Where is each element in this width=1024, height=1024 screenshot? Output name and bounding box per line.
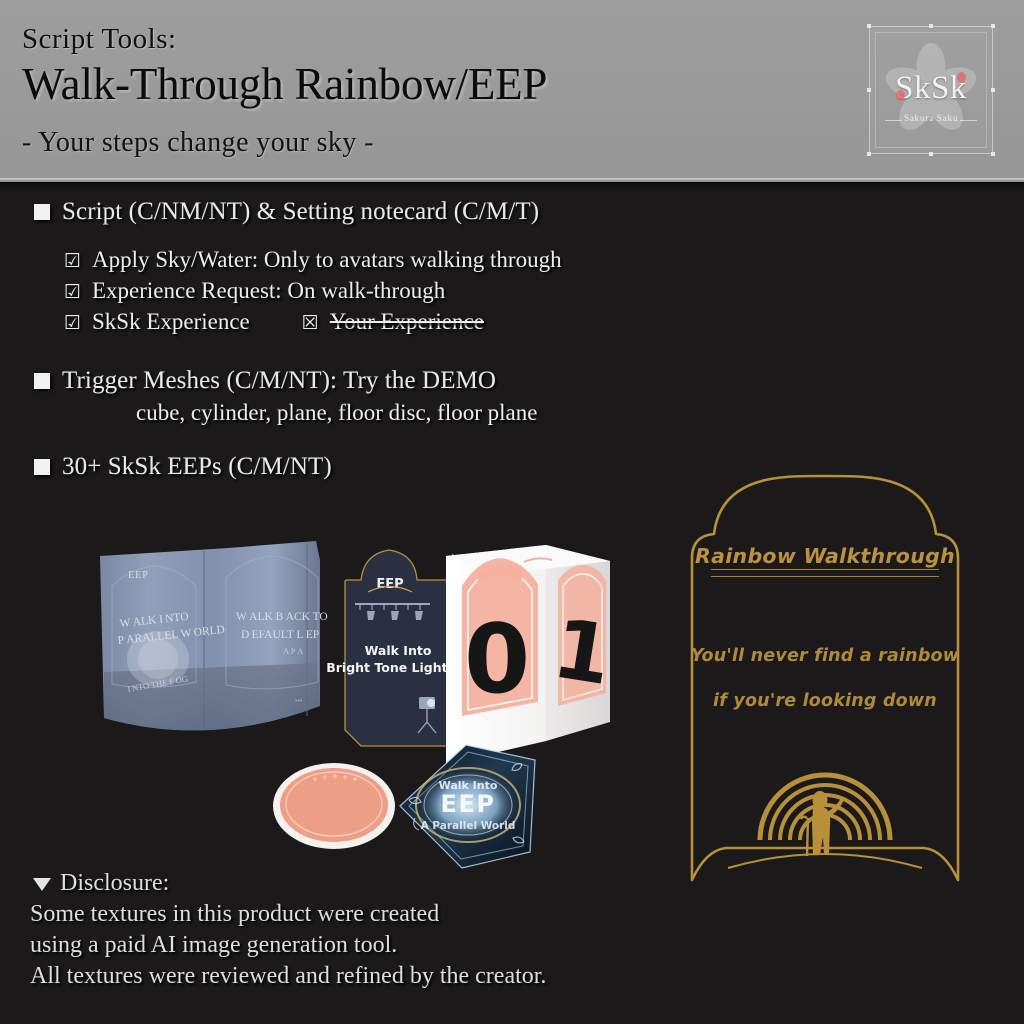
checkbox-square-icon[interactable]	[34, 459, 50, 475]
checked-box-icon[interactable]: ☑	[64, 309, 83, 338]
studio-light-icon	[418, 697, 436, 733]
svg-text:•••: •••	[295, 697, 303, 705]
trigger-meshes-note: cube, cylinder, plane, floor disc, floor…	[0, 398, 660, 428]
sub-item-sksk-experience: ☑ SkSk Experience ☒ Your Experience	[0, 307, 660, 338]
person-silhouette	[812, 791, 844, 855]
logo-accent-dot-left	[896, 90, 905, 101]
header-tagline: - Your steps change your sky -	[22, 127, 374, 159]
floor-plane-line3: A Parallel World	[421, 820, 516, 832]
svg-text:EEP: EEP	[128, 570, 149, 581]
feature-checklist: Script (C/NM/NT) & Setting notecard (C/M…	[0, 195, 660, 484]
spacer	[0, 338, 660, 364]
sub-item-label: SkSk Experience	[92, 307, 250, 336]
spacer	[0, 428, 660, 450]
checked-box-icon[interactable]: ☑	[64, 247, 83, 276]
sub-item-apply-sky-water: ☑ Apply Sky/Water: Only to avatars walki…	[0, 245, 660, 276]
mesh-cylinder: EEP W ALK I NTO P ARALLEL W ORLD I NTO T…	[100, 541, 328, 731]
logo-handle-bc	[929, 152, 933, 156]
disclosure-heading-row: Disclosure:	[30, 868, 750, 899]
logo-subtitle: Sakura Saku	[869, 114, 993, 124]
checklist-item-label: Script (C/NM/NT) & Setting notecard (C/M…	[62, 195, 539, 229]
cube-face-1: 1	[547, 601, 618, 704]
floor-plane-line1: Walk Into	[439, 779, 498, 792]
sub-item-your-experience: ☒ Your Experience	[302, 307, 484, 338]
navy-card-line2: Bright Tone Lighting	[326, 660, 470, 675]
floor-plane-eep: EEP	[441, 790, 496, 818]
navy-card-line1: Walk Into	[365, 643, 432, 658]
cube-face-0: 0	[464, 605, 530, 715]
checklist-sublist: ☑ Apply Sky/Water: Only to avatars walki…	[0, 245, 660, 338]
svg-text:W ALK I NTO: W ALK I NTO	[119, 611, 189, 630]
header-eyebrow: Script Tools:	[22, 23, 177, 56]
svg-text:P ARALLEL W ORLD: P ARALLEL W ORLD	[117, 624, 225, 647]
logo-wordmark: SkSk	[869, 70, 993, 107]
disclosure-line-2: using a paid AI image generation tool.	[30, 930, 750, 961]
logo-accent-dot-right	[957, 72, 966, 83]
logo-handle-br	[991, 152, 995, 156]
logo-handle-tl	[867, 24, 871, 28]
svg-text:W ALK B ACK TO: W ALK B ACK TO	[236, 611, 328, 623]
checked-box-icon[interactable]: ☑	[64, 278, 83, 307]
logo-handle-bl	[867, 152, 871, 156]
svg-text:I NTO THE F OG: I NTO THE F OG	[127, 673, 189, 693]
mesh-cube: 0 1	[446, 545, 618, 768]
checklist-item-eeps: 30+ SkSk EEPs (C/M/NT)	[0, 450, 660, 484]
mesh-floor-plane: Walk Into EEP A Parallel World	[400, 745, 535, 868]
header-dropshadow	[0, 182, 1024, 192]
sub-item-label: Experience Request: On walk-through	[92, 276, 445, 305]
sub-item-experience-request: ☑ Experience Request: On walk-through	[0, 276, 660, 307]
navy-card-badge: EEP	[376, 577, 403, 592]
logo-handle-tr	[991, 24, 995, 28]
crossed-box-icon[interactable]: ☒	[302, 309, 321, 338]
checkbox-square-icon[interactable]	[34, 204, 50, 220]
mesh-plane-navy-card: EEP Walk Into Bright Tone Lighting	[326, 550, 470, 746]
svg-text:A P A: A P A	[283, 646, 304, 656]
checklist-item-script: Script (C/NM/NT) & Setting notecard (C/M…	[0, 195, 660, 229]
logo-handle-tc	[929, 24, 933, 28]
triangle-down-icon[interactable]	[33, 878, 51, 891]
sub-item-label: Apply Sky/Water: Only to avatars walking…	[92, 245, 562, 274]
rainbow-figure-illustration	[678, 466, 972, 890]
disclosure-line-1: Some textures in this product were creat…	[30, 899, 750, 930]
header-banner: Script Tools: Walk-Through Rainbow/EEP -…	[0, 0, 1024, 182]
sub-item-label-struck: Your Experience	[330, 307, 484, 336]
product-ad-card: Script Tools: Walk-Through Rainbow/EEP -…	[0, 0, 1024, 1024]
checklist-item-label: 30+ SkSk EEPs (C/M/NT)	[62, 450, 332, 484]
header-divider	[0, 178, 1024, 181]
disclosure-block: Disclosure: Some textures in this produc…	[30, 868, 750, 992]
rainbow-walkthrough-panel: Rainbow Walkthrough You'll never find a …	[678, 466, 972, 890]
mesh-floor-disc	[273, 763, 395, 849]
disclosure-line-3: All textures were reviewed and refined b…	[30, 961, 750, 992]
checkbox-square-icon[interactable]	[34, 373, 50, 389]
checklist-item-trigger-meshes: Trigger Meshes (C/M/NT): Try the DEMO	[0, 364, 660, 398]
checklist-item-label: Trigger Meshes (C/M/NT): Try the DEMO	[62, 364, 496, 398]
page-title: Walk-Through Rainbow/EEP	[22, 58, 547, 110]
svg-text:D EFAULT L EP: D EFAULT L EP	[241, 629, 319, 641]
brand-logo: SkSk Sakura Saku	[869, 26, 993, 154]
disclosure-heading: Disclosure:	[60, 868, 169, 899]
